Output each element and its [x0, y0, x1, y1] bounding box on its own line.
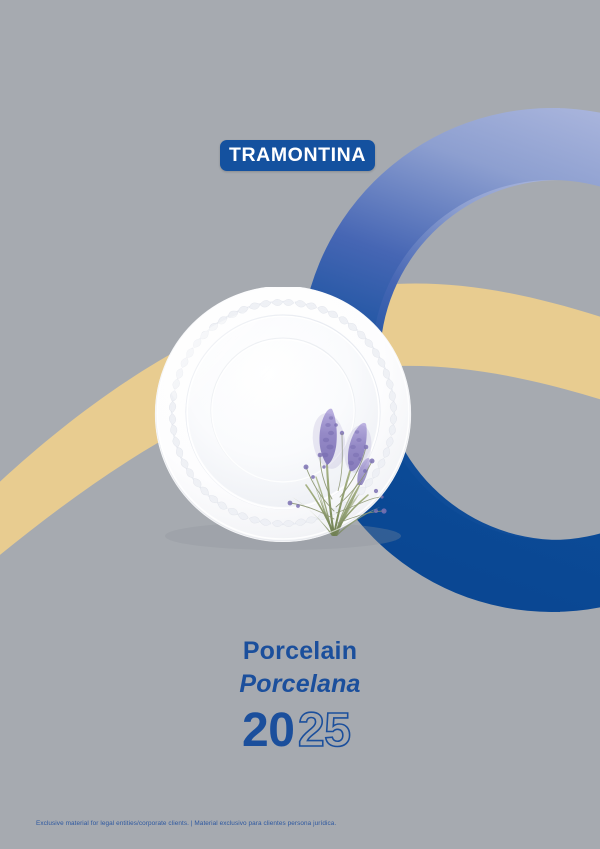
- footer-legal-note: Exclusive material for legal entities/co…: [36, 820, 336, 827]
- product-plate: [154, 287, 412, 542]
- title-english: Porcelain: [0, 636, 600, 667]
- title-block: Porcelain Porcelana: [0, 636, 600, 699]
- year-block: 20 25: [0, 704, 600, 754]
- year-solid-part: 20: [242, 704, 294, 754]
- catalog-cover-page: TRAMONTINA: [0, 0, 600, 849]
- year-outline-part: 25: [298, 704, 350, 754]
- brand-logo-text: TRAMONTINA: [229, 146, 366, 166]
- brand-logo-badge: TRAMONTINA: [220, 140, 375, 171]
- title-spanish: Porcelana: [0, 669, 600, 700]
